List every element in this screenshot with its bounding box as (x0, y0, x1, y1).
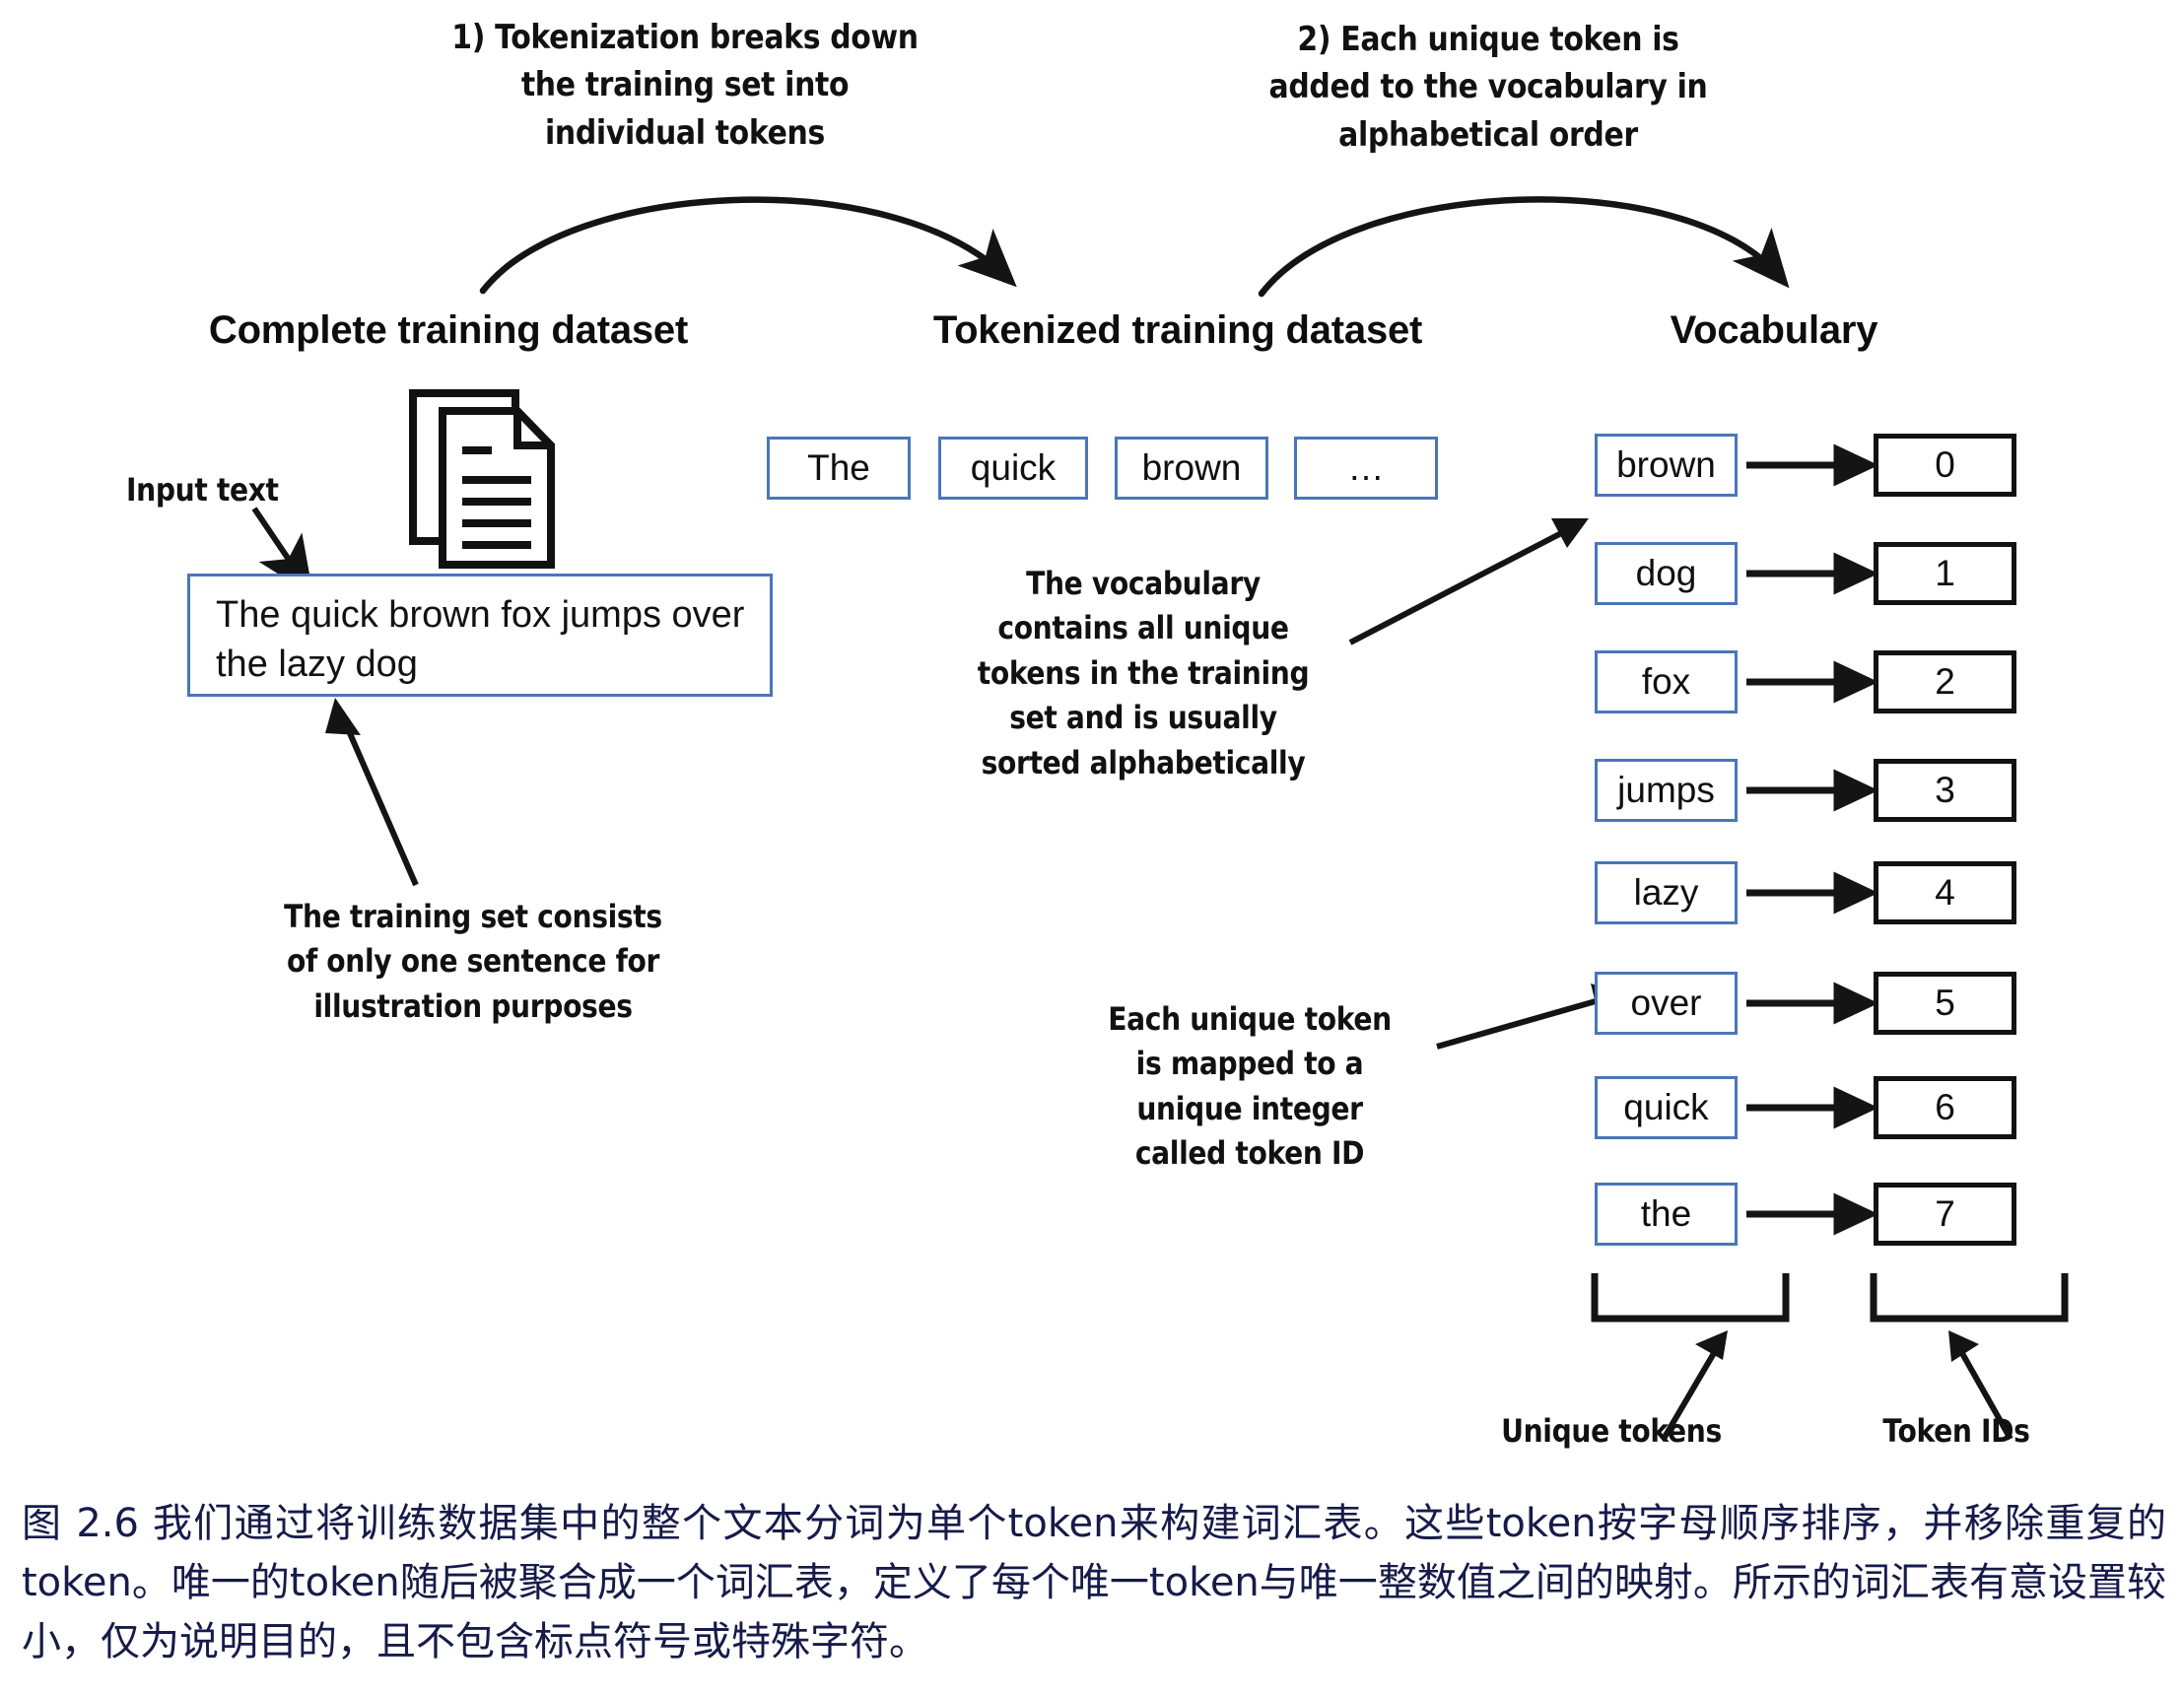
input-text-value: The quick brown fox jumps over the lazy … (216, 594, 744, 685)
figure-caption: 图 2.6 我们通过将训练数据集中的整个文本分词为单个token来构建词汇表。这… (22, 1494, 2166, 1671)
vocab-id-label: 6 (1935, 1087, 1955, 1128)
arrow-vocabulary-note (1321, 483, 1606, 670)
arrow-step1 (483, 200, 1005, 291)
vocab-token-2[interactable]: fox (1595, 650, 1738, 713)
vocab-id-0[interactable]: 0 (1874, 434, 2016, 497)
arrow-step2 (1262, 199, 1779, 294)
label-unique-tokens: Unique tokens (1472, 1409, 1750, 1454)
figure-canvas: 1) Tokenization breaks down the training… (0, 0, 2184, 1697)
vocab-token-label: jumps (1617, 770, 1715, 811)
input-text-box[interactable]: The quick brown fox jumps over the lazy … (187, 574, 773, 697)
top-curved-arrows (0, 128, 2184, 305)
vocab-token-0[interactable]: brown (1595, 434, 1738, 497)
vocab-id-label: 1 (1935, 553, 1955, 594)
vocab-token-label: quick (1623, 1087, 1708, 1128)
vocab-id-7[interactable]: 7 (1874, 1183, 2016, 1246)
vocab-token-label: lazy (1634, 872, 1699, 914)
vocab-mapping-arrows (1744, 414, 1892, 1271)
label-token-ids: Token IDs (1844, 1409, 2070, 1454)
training-set-note: The training set consists of only one se… (269, 895, 677, 1029)
arrow-training-set-note (296, 690, 473, 897)
token-chip-label: brown (1142, 447, 1242, 489)
vocab-token-4[interactable]: lazy (1595, 861, 1738, 924)
token-chip-label: The (807, 447, 870, 489)
bracket-unique-tokens (1595, 1273, 1786, 1319)
vocab-token-label: over (1631, 983, 1702, 1024)
vocab-id-5[interactable]: 5 (1874, 972, 2016, 1035)
vocab-id-3[interactable]: 3 (1874, 759, 2016, 822)
vocab-id-label: 0 (1935, 444, 1955, 486)
vocab-id-label: 5 (1935, 983, 1955, 1024)
bracket-token-ids (1874, 1273, 2065, 1319)
heading-vocabulary: Vocabulary (1508, 308, 2040, 353)
vocab-token-7[interactable]: the (1595, 1183, 1738, 1246)
document-stack-icon (409, 389, 567, 577)
vocabulary-note: The vocabulary contains all unique token… (966, 562, 1322, 785)
token-chip-0[interactable]: The (767, 437, 911, 500)
vocab-token-3[interactable]: jumps (1595, 759, 1738, 822)
vocab-token-label: the (1641, 1193, 1691, 1235)
token-chip-1[interactable]: quick (938, 437, 1088, 500)
vocab-token-label: brown (1616, 444, 1716, 486)
vocab-id-1[interactable]: 1 (1874, 542, 2016, 605)
vocab-token-5[interactable]: over (1595, 972, 1738, 1035)
vocab-token-1[interactable]: dog (1595, 542, 1738, 605)
vocab-token-6[interactable]: quick (1595, 1076, 1738, 1139)
vocab-token-label: dog (1636, 553, 1697, 594)
vocab-id-label: 2 (1935, 661, 1955, 703)
vocab-id-2[interactable]: 2 (1874, 650, 2016, 713)
vocab-id-label: 4 (1935, 872, 1955, 914)
token-chip-2[interactable]: brown (1115, 437, 1268, 500)
token-chip-label: quick (971, 447, 1056, 489)
vocab-id-6[interactable]: 6 (1874, 1076, 2016, 1139)
token-id-note: Each unique token is mapped to a unique … (1098, 997, 1401, 1177)
vocab-token-label: fox (1642, 661, 1690, 703)
vocab-id-label: 3 (1935, 770, 1955, 811)
vocab-id-4[interactable]: 4 (1874, 861, 2016, 924)
vocab-id-label: 7 (1935, 1193, 1955, 1235)
